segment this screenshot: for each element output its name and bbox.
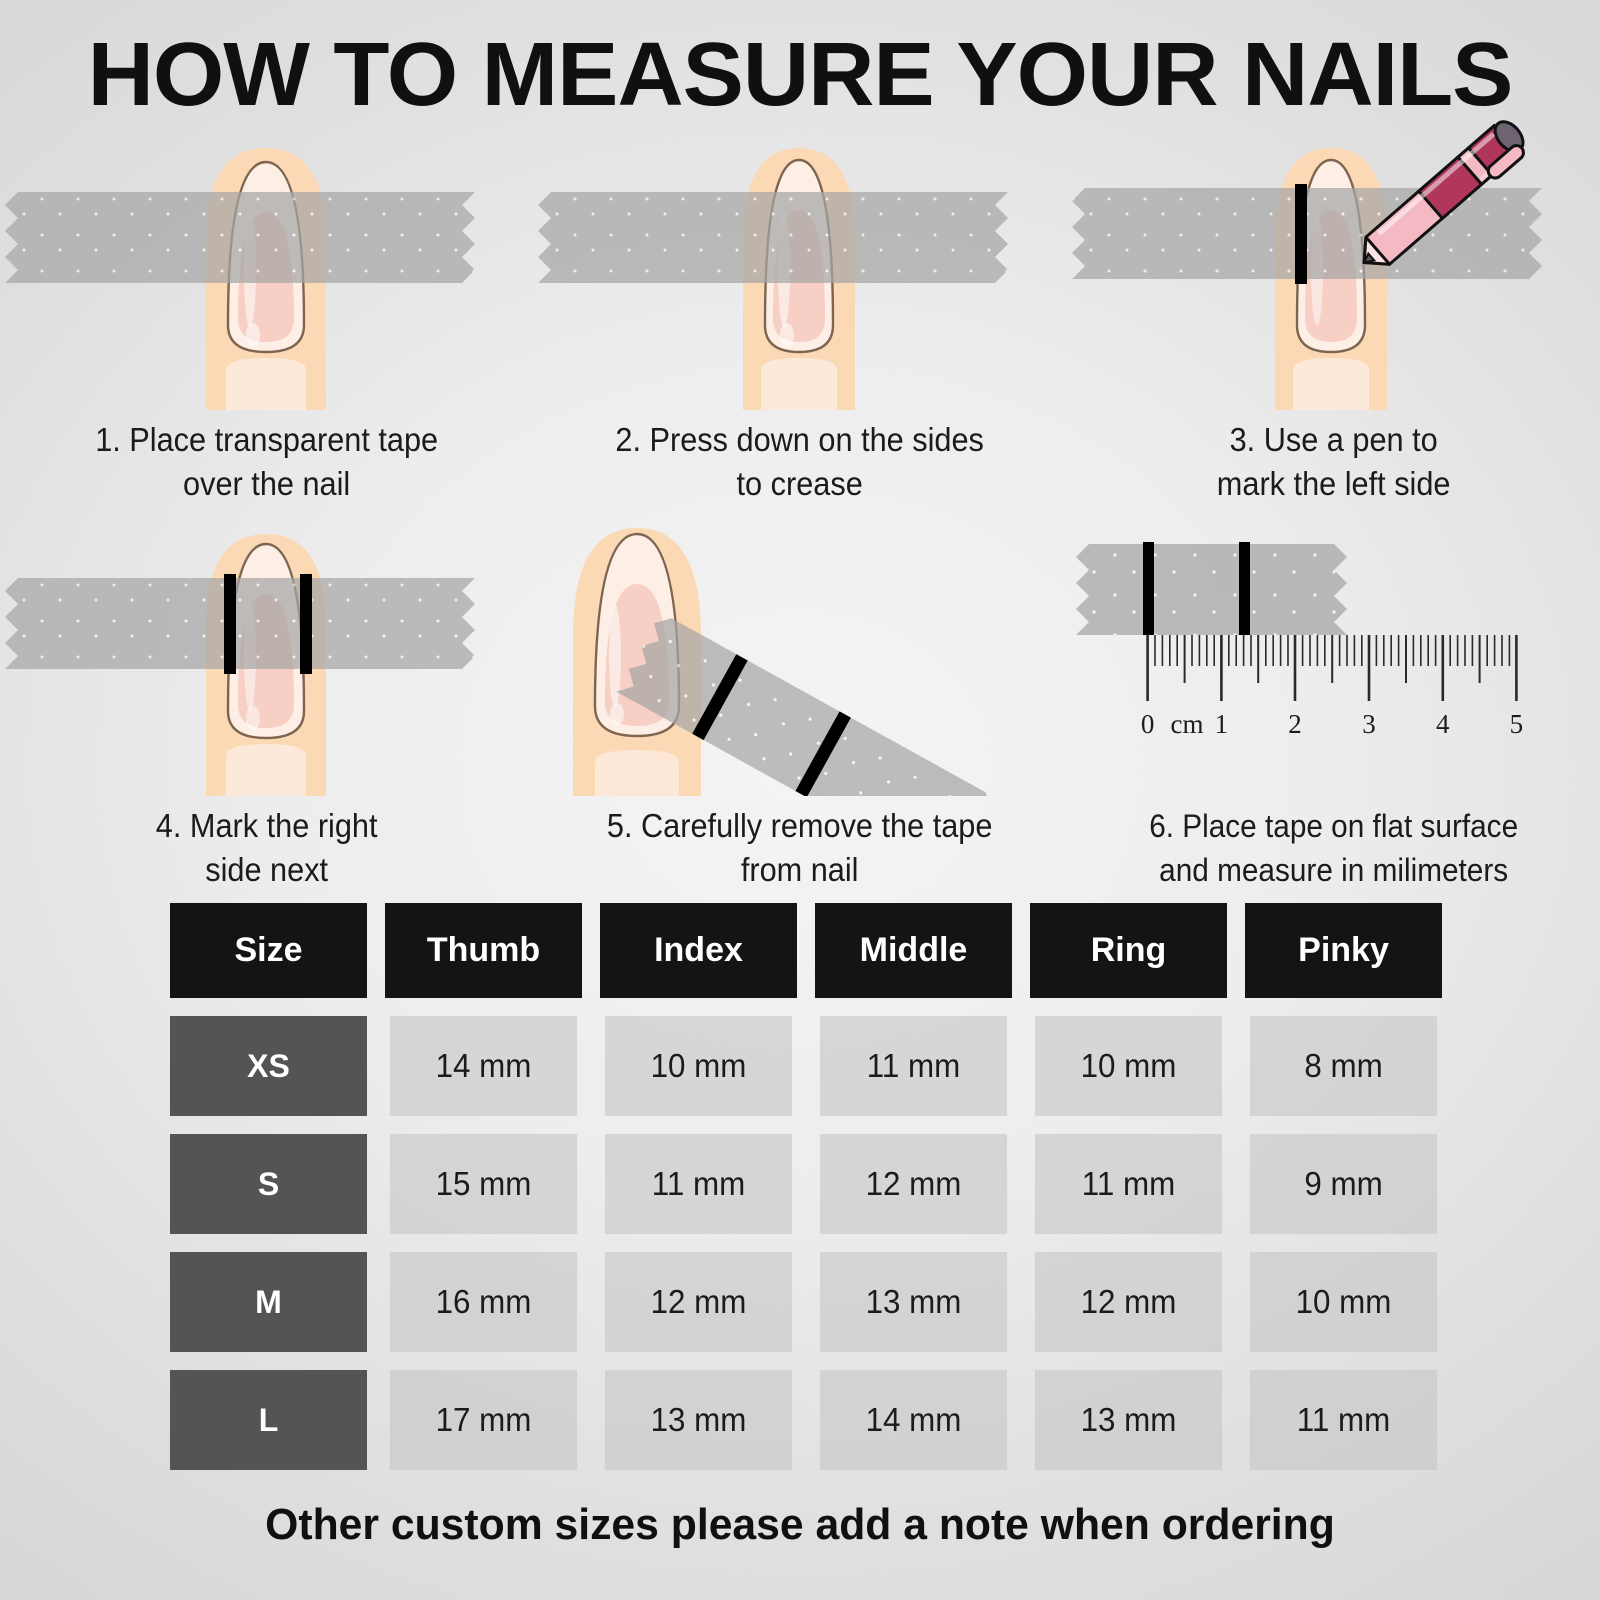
step-2: 2. Press down on the sides to crease — [533, 120, 1066, 506]
cell-xs-pinky: 8 mm — [1250, 1016, 1437, 1116]
infographic-root: HOW TO MEASURE YOUR NAILS — [0, 0, 1600, 1600]
cell-l-thumb: 17 mm — [390, 1370, 577, 1470]
cell-xs-middle: 11 mm — [820, 1016, 1007, 1116]
steps-section: 1. Place transparent tape over the nail — [0, 120, 1600, 892]
table-row: L 17 mm 13 mm 14 mm 13 mm 11 mm — [170, 1370, 1442, 1470]
column-header-pinky: Pinky — [1245, 903, 1442, 998]
left-mark — [1143, 542, 1154, 635]
step-4-illustration — [0, 506, 533, 796]
nail-gloss-dot — [246, 323, 260, 347]
ruler-half-ticks — [1184, 635, 1516, 683]
tape-body — [5, 192, 475, 283]
step-4: 4. Mark the right side next — [0, 506, 533, 892]
right-mark — [1239, 542, 1250, 635]
cell-l-ring: 13 mm — [1035, 1370, 1222, 1470]
cell-m-thumb: 16 mm — [390, 1252, 577, 1352]
page-title: HOW TO MEASURE YOUR NAILS — [0, 24, 1600, 127]
step-5: 5. Carefully remove the tape from nail — [533, 506, 1066, 892]
cell-s-pinky: 9 mm — [1250, 1134, 1437, 1234]
ruler-tick-3: 3 — [1362, 709, 1376, 739]
step-3-caption: 3. Use a pen to mark the left side — [1085, 410, 1581, 506]
table-row: S 15 mm 11 mm 12 mm 11 mm 9 mm — [170, 1134, 1442, 1234]
finger-highlight — [761, 358, 837, 410]
finger-highlight — [1293, 358, 1369, 410]
step-5-illustration — [533, 506, 1066, 796]
finger-highlight — [226, 358, 306, 410]
step-6: 0 cm 1 2 3 4 5 6. Place tape on flat sur… — [1067, 506, 1600, 892]
footer-note: Other custom sizes please add a note whe… — [24, 1500, 1576, 1550]
cell-m-ring: 12 mm — [1035, 1252, 1222, 1352]
tape-body — [538, 192, 1008, 283]
cell-l-index: 13 mm — [605, 1370, 792, 1470]
step-5-caption: 5. Carefully remove the tape from nail — [552, 796, 1048, 892]
size-label-xs: XS — [170, 1016, 367, 1116]
size-label-s: S — [170, 1134, 367, 1234]
step-4-caption: 4. Mark the right side next — [19, 796, 515, 892]
step-6-illustration: 0 cm 1 2 3 4 5 — [1067, 506, 1600, 796]
column-header-size: Size — [170, 903, 367, 998]
measured-tape-group: 0 cm 1 2 3 4 5 — [1076, 542, 1523, 739]
nail-gloss-dot — [610, 703, 624, 725]
column-header-index: Index — [600, 903, 797, 998]
cell-s-ring: 11 mm — [1035, 1134, 1222, 1234]
cell-m-index: 12 mm — [605, 1252, 792, 1352]
finger-group — [5, 148, 475, 410]
steps-row-top: 1. Place transparent tape over the nail — [0, 120, 1600, 506]
nail-gloss-dot — [780, 323, 794, 347]
cell-l-middle: 14 mm — [820, 1370, 1007, 1470]
finger-highlight — [595, 750, 679, 796]
cell-xs-index: 10 mm — [605, 1016, 792, 1116]
cell-s-index: 11 mm — [605, 1134, 792, 1234]
finger-group — [1072, 116, 1542, 410]
table-row: XS 14 mm 10 mm 11 mm 10 mm 8 mm — [170, 1016, 1442, 1116]
cell-m-middle: 13 mm — [820, 1252, 1007, 1352]
right-mark — [300, 574, 312, 674]
step-3-illustration — [1067, 120, 1600, 410]
finger-group — [5, 534, 475, 796]
ruler-unit-label: cm — [1170, 709, 1203, 739]
column-header-ring: Ring — [1030, 903, 1227, 998]
size-label-m: M — [170, 1252, 367, 1352]
tape-strip — [5, 192, 475, 283]
finger-highlight — [226, 744, 306, 796]
nail-gloss-dot — [246, 706, 260, 730]
ruler-tick-1: 1 — [1214, 709, 1228, 739]
cell-xs-ring: 10 mm — [1035, 1016, 1222, 1116]
step-1-illustration — [0, 120, 533, 410]
step-2-illustration — [533, 120, 1066, 410]
cell-s-middle: 12 mm — [820, 1134, 1007, 1234]
left-mark — [1295, 184, 1307, 284]
finger-group — [538, 148, 1008, 410]
tape-body — [5, 578, 475, 669]
ruler-labels: 0 cm 1 2 3 4 5 — [1141, 709, 1523, 739]
ruler-tick-5: 5 — [1509, 709, 1523, 739]
ruler-tick-4: 4 — [1436, 709, 1450, 739]
cell-s-thumb: 15 mm — [390, 1134, 577, 1234]
column-header-middle: Middle — [815, 903, 1012, 998]
table-row: M 16 mm 12 mm 13 mm 12 mm 10 mm — [170, 1252, 1442, 1352]
left-mark — [224, 574, 236, 674]
ruler-tick-0: 0 — [1141, 709, 1155, 739]
table-header-row: Size Thumb Index Middle Ring Pinky — [170, 903, 1442, 998]
steps-row-bottom: 4. Mark the right side next — [0, 506, 1600, 892]
step-3: 3. Use a pen to mark the left side — [1067, 120, 1600, 506]
cell-xs-thumb: 14 mm — [390, 1016, 577, 1116]
tape-body — [1076, 544, 1347, 635]
cell-l-pinky: 11 mm — [1250, 1370, 1437, 1470]
column-header-thumb: Thumb — [385, 903, 582, 998]
size-label-l: L — [170, 1370, 367, 1470]
step-2-caption: 2. Press down on the sides to crease — [552, 410, 1048, 506]
cell-m-pinky: 10 mm — [1250, 1252, 1437, 1352]
tape-strip — [1076, 544, 1347, 635]
ruler-tick-2: 2 — [1288, 709, 1302, 739]
ruler — [1147, 635, 1516, 701]
step-1: 1. Place transparent tape over the nail — [0, 120, 533, 506]
tape-strip — [538, 192, 1008, 283]
tape-strip — [5, 578, 475, 669]
step-1-caption: 1. Place transparent tape over the nail — [19, 410, 515, 506]
size-chart-table: Size Thumb Index Middle Ring Pinky XS 14… — [170, 903, 1442, 1488]
step-6-caption: 6. Place tape on flat surface and measur… — [1085, 796, 1581, 892]
